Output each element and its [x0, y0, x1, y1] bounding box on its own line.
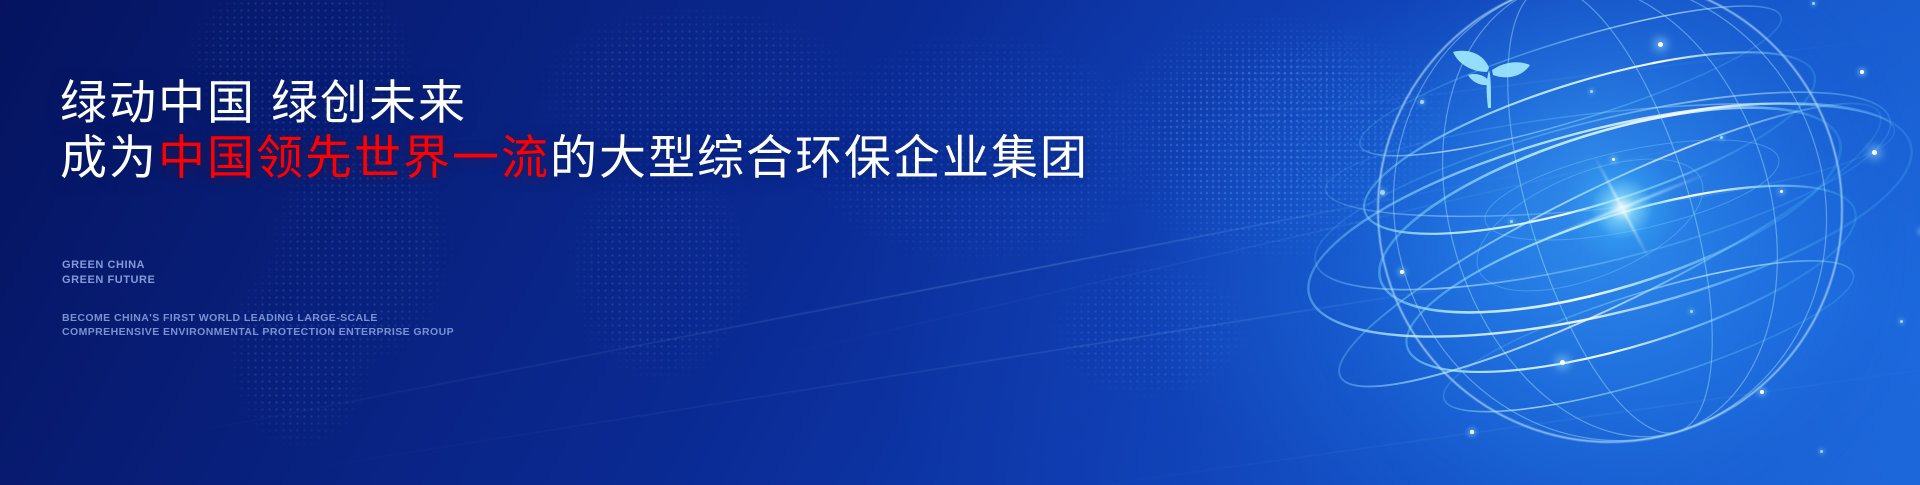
headline-suffix: 的大型综合环保企业集团 — [550, 131, 1089, 184]
text-content: 绿动中国 绿创未来 成为中国领先世界一流的大型综合环保企业集团 GREEN CH… — [60, 0, 1080, 485]
headline-highlight: 中国领先世界一流 — [158, 131, 550, 184]
caption-line-1: BECOME CHINA'S FIRST WORLD LEADING LARGE… — [62, 311, 454, 325]
subtitle-block: GREEN CHINA GREEN FUTURE — [62, 258, 155, 288]
headline-line-2: 成为中国领先世界一流的大型综合环保企业集团 — [60, 133, 1089, 184]
subtitle-line-1: GREEN CHINA — [62, 258, 155, 273]
headline-line-1: 绿动中国 绿创未来 — [60, 78, 467, 129]
caption-line-2: COMPREHENSIVE ENVIRONMENTAL PROTECTION E… — [62, 325, 454, 339]
headline-prefix: 成为 — [60, 131, 158, 184]
light-streak — [1005, 362, 1920, 485]
caption-block: BECOME CHINA'S FIRST WORLD LEADING LARGE… — [62, 311, 454, 339]
hero-banner: 绿动中国 绿创未来 成为中国领先世界一流的大型综合环保企业集团 GREEN CH… — [0, 0, 1920, 485]
subtitle-line-2: GREEN FUTURE — [62, 273, 155, 288]
